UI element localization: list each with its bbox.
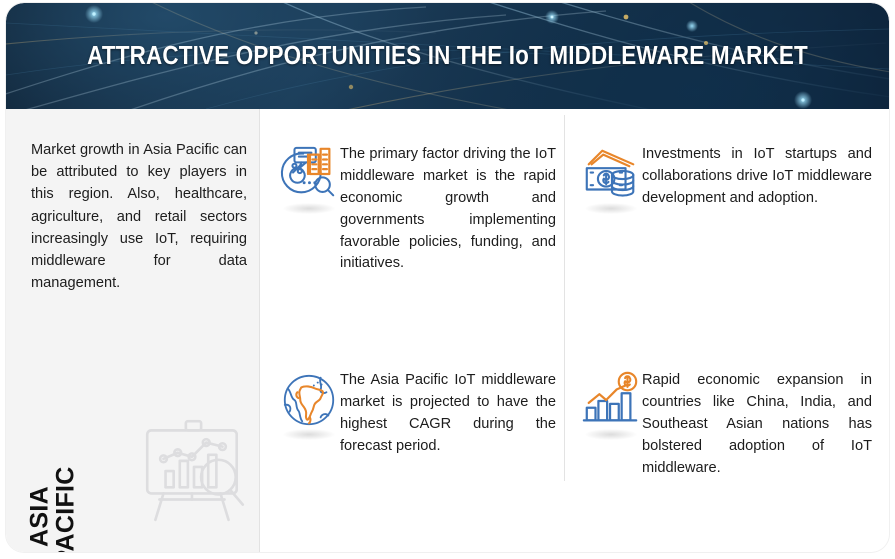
feature-text-investments: Investments in IoT startups and collabor…	[642, 144, 872, 210]
region-label: ASIA PACIFIC	[28, 447, 79, 553]
icon-container	[274, 143, 344, 219]
icon-shadow	[585, 203, 637, 214]
feature-text-cagr: The Asia Pacific IoT middleware market i…	[340, 370, 556, 458]
globe-icon	[278, 369, 340, 431]
content-area: Market growth in Asia Pacific can be att…	[6, 109, 889, 552]
icon-container	[576, 369, 646, 445]
icon-shadow	[283, 203, 335, 214]
infographic-page: ATTRACTIVE OPPORTUNITIES IN THE IoT MIDD…	[0, 0, 895, 559]
infographic-card: ATTRACTIVE OPPORTUNITIES IN THE IoT MIDD…	[6, 3, 889, 552]
icon-shadow	[283, 429, 335, 440]
icon-container	[274, 369, 344, 445]
column-divider-right	[564, 115, 565, 481]
money-investment-icon	[580, 143, 642, 205]
feature-text-expansion: Rapid economic expansion in countries li…	[642, 370, 872, 479]
column-divider-left	[259, 109, 260, 552]
feature-text-growth-driver: The primary factor driving the IoT middl…	[340, 144, 556, 275]
region-summary-text: Market growth in Asia Pacific can be att…	[31, 139, 247, 294]
economic-analysis-icon	[278, 143, 340, 205]
icon-shadow	[585, 429, 637, 440]
page-title: ATTRACTIVE OPPORTUNITIES IN THE IoT MIDD…	[59, 3, 836, 109]
icon-container	[576, 143, 646, 219]
header-banner: ATTRACTIVE OPPORTUNITIES IN THE IoT MIDD…	[6, 3, 889, 109]
growth-chart-dollar-icon	[580, 369, 642, 431]
presentation-chart-magnifier-icon	[133, 408, 255, 530]
